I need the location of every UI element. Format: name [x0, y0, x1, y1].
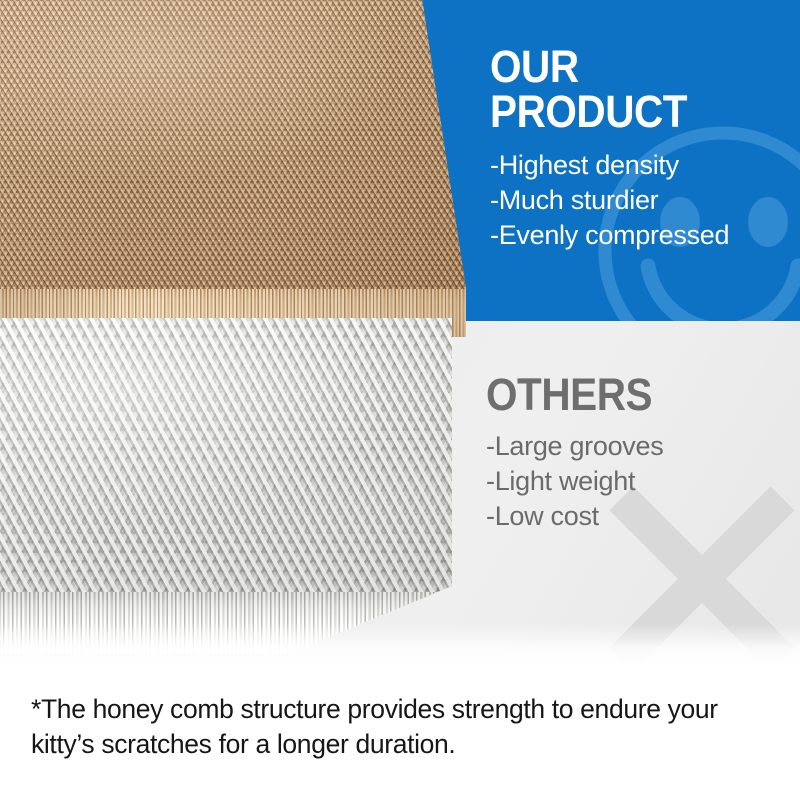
- our-product-text-block: OUR PRODUCT -Highest density -Much sturd…: [490, 44, 800, 253]
- brown-board-top-surface: [0, 0, 484, 292]
- others-bullet-3: -Low cost: [486, 499, 800, 534]
- our-product-bullet-3: -Evenly compressed: [490, 218, 800, 253]
- our-product-bullet-1: -Highest density: [490, 148, 800, 183]
- others-bullet-list: -Large grooves -Light weight -Low cost: [486, 429, 800, 534]
- our-product-heading: OUR PRODUCT: [490, 44, 769, 134]
- others-bullet-2: -Light weight: [486, 464, 800, 499]
- others-text-block: OTHERS -Large grooves -Light weight -Low…: [486, 372, 800, 534]
- our-product-bullet-list: -Highest density -Much sturdier -Evenly …: [490, 148, 800, 253]
- caption-bar: *The honey comb structure provides stren…: [0, 663, 800, 800]
- our-product-bullet-2: -Much sturdier: [490, 183, 800, 218]
- footnote-caption: *The honey comb structure provides stren…: [31, 692, 773, 762]
- white-board-top-surface: [0, 318, 466, 600]
- brown-honeycomb-board-image: [0, 0, 484, 337]
- infographic-canvas: OUR PRODUCT -Highest density -Much sturd…: [0, 0, 800, 800]
- others-bullet-1: -Large grooves: [486, 429, 800, 464]
- white-honeycomb-board-image: [0, 318, 466, 658]
- others-heading: OTHERS: [486, 372, 769, 417]
